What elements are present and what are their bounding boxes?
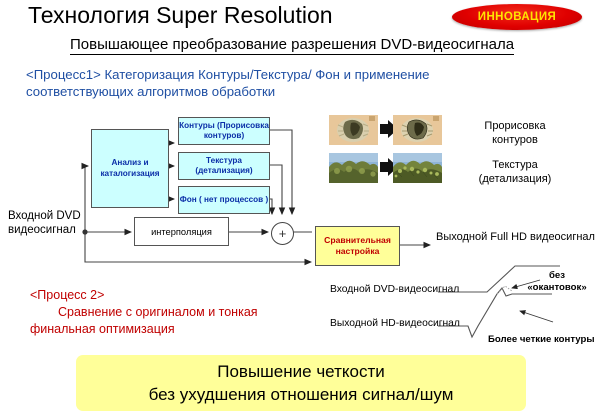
box-background[interactable]: Фон ( нет процессов ) bbox=[178, 186, 270, 214]
summary-banner-line2: без ухудшения отношения сигнал/шум bbox=[149, 383, 454, 406]
box-analysis[interactable]: Анализ и каталогизация bbox=[91, 129, 169, 208]
process2-line1: <Процесс 2> bbox=[30, 288, 104, 302]
summary-banner: Повышение четкости без ухудшения отношен… bbox=[76, 355, 526, 411]
sample-contour-label: Прорисовкаконтуров bbox=[460, 119, 570, 147]
sample-contour-before-image bbox=[329, 115, 378, 145]
box-contours[interactable]: Контуры (Прорисовка контуров) bbox=[178, 117, 270, 145]
waveform-annotation-no-halo: без«окантовок» bbox=[524, 270, 590, 294]
process2-line3: финальная оптимизация bbox=[30, 321, 330, 338]
input-junction-dot bbox=[82, 229, 87, 234]
waveform-output-label: Выходной HD-видеосигнал bbox=[330, 318, 460, 329]
process2-line2: Сравнение с оригиналом и тонкая bbox=[30, 304, 330, 321]
box-interpolation[interactable]: интерполяция bbox=[134, 217, 229, 246]
box-texture[interactable]: Текстура (детализация) bbox=[178, 152, 270, 180]
sample-texture-after-image bbox=[393, 153, 442, 183]
waveform-output bbox=[438, 288, 552, 337]
summary-banner-line1: Повышение четкости bbox=[217, 360, 384, 383]
sample-texture-before-image bbox=[329, 153, 378, 183]
waveform-input-label: Входной DVD-видеосигнал bbox=[330, 284, 459, 295]
waveform-annotation-sharper: Более четкие контуры bbox=[488, 334, 595, 345]
input-signal-label: Входной DVDвидеосигнал bbox=[8, 209, 81, 237]
box-comparative-adjustment[interactable]: Сравнительная настройка bbox=[315, 226, 400, 266]
sample-texture-label: Текстура(детализация) bbox=[460, 158, 570, 186]
sample-contour-after-image bbox=[393, 115, 442, 145]
summing-node: + bbox=[271, 222, 294, 245]
output-signal-label: Выходной Full HD видеосигнал bbox=[436, 231, 595, 243]
process2-heading: <Процесс 2> Сравнение с оригиналом и тон… bbox=[30, 287, 330, 338]
diagram-connectors bbox=[0, 0, 600, 414]
